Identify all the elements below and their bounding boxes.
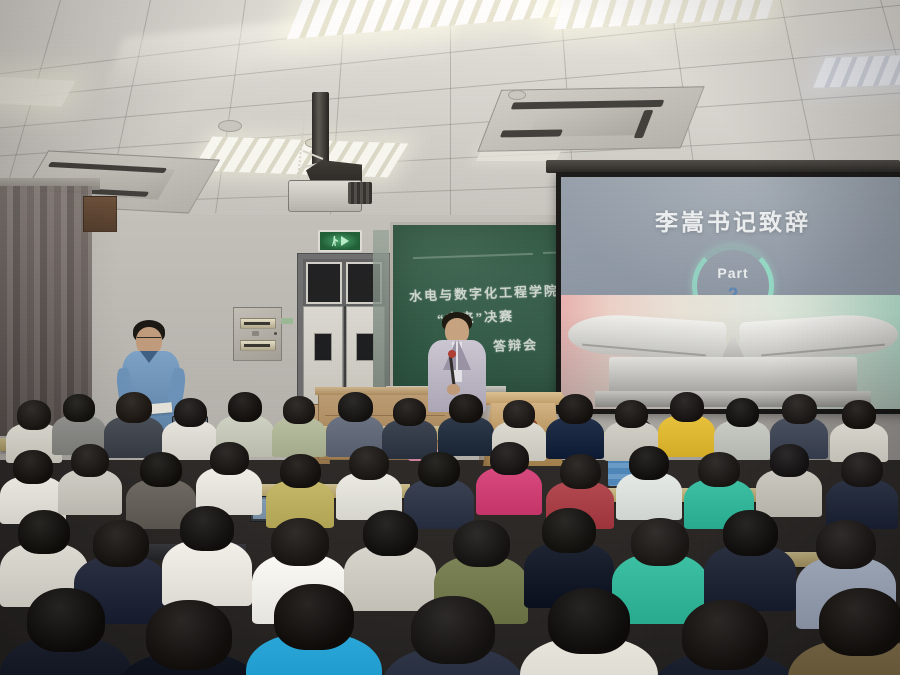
transom-pane (306, 262, 342, 304)
audience-head (449, 394, 483, 423)
audience-head (558, 394, 593, 424)
smoke-detector-icon (508, 90, 526, 100)
presentation-slide: 李嵩书记致辞 Part 2 (561, 177, 900, 409)
audience-head (411, 596, 495, 664)
audience-head (490, 442, 529, 475)
audience-head (726, 398, 759, 427)
blackboard-side-panel (373, 230, 389, 390)
audience-head (503, 400, 535, 428)
audience-seat (246, 584, 382, 675)
audience-head (71, 444, 109, 477)
fluorescent-light-fixture (813, 54, 900, 88)
audience-head (116, 392, 152, 423)
audience-head (548, 588, 630, 654)
wall-sticker (281, 318, 293, 324)
projection-screen: 李嵩书记致辞 Part 2 (556, 172, 900, 414)
exit-sign-glow (320, 232, 360, 250)
panel-indicator-icon (274, 332, 277, 335)
audience-head (841, 452, 883, 487)
audience-head (782, 394, 817, 424)
audience-head (63, 394, 95, 422)
audience-head (363, 510, 418, 556)
audience-seat (116, 600, 262, 675)
audience-seat (788, 588, 900, 675)
audience-head (670, 392, 704, 422)
audience-head (698, 452, 740, 487)
slide-part-label: Part (717, 265, 748, 281)
audience-head (274, 584, 354, 650)
audience-head (271, 518, 329, 566)
audience-seat (0, 588, 132, 675)
audience-head (174, 398, 207, 427)
door-window (356, 333, 374, 361)
audience-head (210, 442, 249, 475)
audience-head (228, 392, 262, 422)
audience-head (27, 588, 105, 652)
audience-head (453, 520, 510, 567)
audience-head (842, 400, 876, 429)
audience-head (418, 452, 460, 487)
audience-head (146, 600, 232, 670)
audience-head (393, 398, 426, 426)
audience-head (682, 600, 768, 670)
audience-head (280, 454, 321, 488)
projector-vent-icon (348, 182, 372, 204)
audience-head (180, 506, 234, 551)
audience-head (629, 446, 669, 480)
audience-head (816, 520, 876, 569)
wall-control-panel[interactable] (233, 307, 282, 361)
audience-head (770, 444, 809, 477)
audience-head (560, 454, 601, 489)
exit-arrow-icon (341, 236, 349, 246)
audience-seat (520, 588, 658, 675)
audience-head (283, 396, 315, 424)
smoke-detector-icon (218, 120, 242, 132)
glasses-icon (137, 337, 161, 342)
panel-switch-row[interactable] (240, 318, 276, 329)
microphone-icon (448, 350, 456, 358)
slide-title: 李嵩书记致辞 (561, 203, 900, 237)
audience-head (349, 446, 389, 480)
audience-head (338, 392, 373, 422)
audience-head (542, 508, 596, 553)
audience-head (13, 450, 53, 484)
blackboard-line-3: 答辩会 (493, 334, 539, 355)
lecture-hall-photo: 水电与数字化工程学院 “未来”决赛 答辩会 李嵩书记致辞 Part 2 (0, 0, 900, 675)
audience-head (819, 588, 900, 656)
audience-head (631, 518, 689, 566)
audience-head (18, 510, 70, 554)
audience-seat (382, 596, 524, 675)
audience-head (615, 400, 648, 428)
wall-speaker-icon (83, 196, 117, 232)
door-window (314, 333, 332, 361)
audience-seat (616, 446, 682, 528)
panel-knob-icon[interactable] (252, 331, 259, 336)
exit-sign (318, 230, 362, 252)
panel-switch-row[interactable] (240, 340, 276, 351)
audience-head (140, 452, 182, 487)
audience-head (723, 510, 778, 556)
audience-area (0, 392, 900, 675)
audience-seat (652, 600, 798, 675)
audience-head (93, 520, 149, 567)
ac-louver (500, 129, 563, 137)
audience-head (17, 400, 51, 430)
book-stack-top (609, 357, 857, 395)
